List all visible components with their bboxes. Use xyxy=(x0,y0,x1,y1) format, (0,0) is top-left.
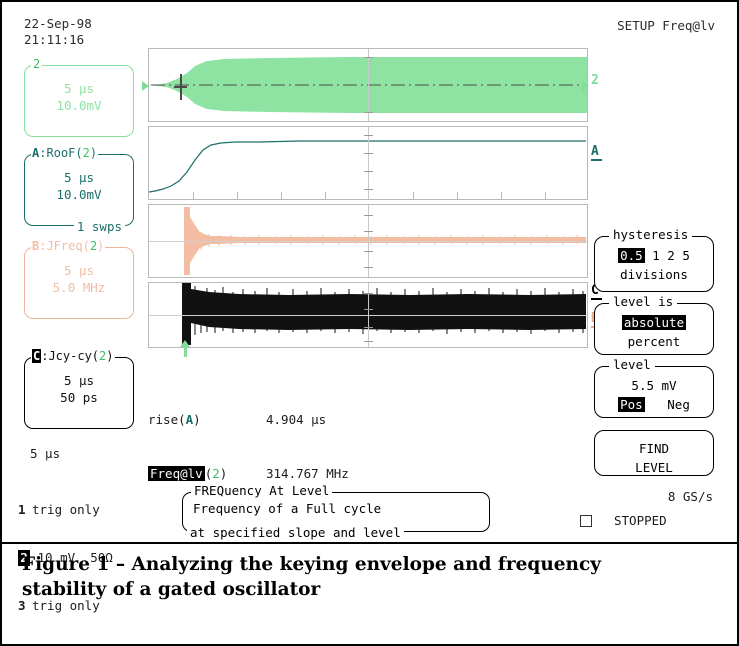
level-value[interactable]: 5.5 mV xyxy=(631,378,676,393)
center-vertical-gridline xyxy=(368,49,369,121)
menu-body-hysteresis: 0.5 1 2 5divisions xyxy=(595,246,713,284)
grid-tick xyxy=(364,215,373,216)
menu-title-hysteresis: hysteresis xyxy=(609,228,692,242)
grid-tick xyxy=(364,341,373,342)
acquisition-status: STOPPED xyxy=(614,513,667,528)
level-slope-neg[interactable]: Neg xyxy=(667,397,690,412)
measurement-value: 4.904 µs xyxy=(266,411,326,429)
trace-descriptor-func-b[interactable]: B:JFreq(2) 5 µs5.0 MHz xyxy=(24,247,134,319)
trace-sweeps-func-a: 1 swps xyxy=(74,220,125,234)
measurement-label: rise(A) xyxy=(148,411,266,429)
grid-tick xyxy=(364,309,373,310)
waveform-panel-func-c xyxy=(148,282,588,348)
sample-rate-readout: 8 GS/s xyxy=(668,489,713,504)
find-level-label: FINDLEVEL xyxy=(595,439,713,477)
waveform-panel-func-a xyxy=(148,126,588,200)
grid-tick xyxy=(364,135,373,136)
measurement-value: 314.767 MHz xyxy=(266,465,349,483)
timebase-readout: 5 µs xyxy=(30,446,60,461)
trace-descriptor-ch2[interactable]: 2 5 µs10.0mV xyxy=(24,65,134,137)
trace-descriptor-func-c[interactable]: C:Jcy-cy(2) 5 µs50 ps xyxy=(24,357,134,429)
grid-tick xyxy=(364,57,373,58)
x-axis-ticks xyxy=(149,198,587,199)
center-horizontal-gridline xyxy=(149,315,587,316)
trigger-position-arrow-icon[interactable] xyxy=(180,340,191,357)
waveform-panel-ch2 xyxy=(148,48,588,122)
grid-tick xyxy=(364,189,373,190)
time-text: 21:11:16 xyxy=(24,32,84,47)
hysteresis-option-1[interactable]: 1 xyxy=(652,248,660,263)
find-level-button[interactable]: FINDLEVEL xyxy=(594,430,714,476)
grid-tick xyxy=(364,231,373,232)
date-text: 22-Sep-98 xyxy=(24,16,92,31)
description-panel: FREQuency At Level Frequency of a Full c… xyxy=(182,492,490,532)
hysteresis-option-5[interactable]: 5 xyxy=(682,248,690,263)
description-title: FREQuency At Level xyxy=(191,484,332,498)
trace-tag-ch2: 2 xyxy=(31,57,42,71)
level-is-option-absolute[interactable]: absolute xyxy=(622,315,686,330)
menu-hysteresis[interactable]: hysteresis 0.5 1 2 5divisions xyxy=(594,236,714,292)
grid-tick xyxy=(364,153,373,154)
level-is-option-percent[interactable]: percent xyxy=(628,334,681,349)
description-line2: at specified slope and level xyxy=(187,526,404,540)
trace-descriptor-func-a[interactable]: A:RooF(2) 5 µs10.0mV 1 swps xyxy=(24,154,134,226)
waveform-panel-func-b xyxy=(148,204,588,278)
trace-values-ch2: 5 µs10.0mV xyxy=(25,80,133,114)
channel-status: trig only xyxy=(32,502,100,517)
measurement-label: Freq@lv(2) xyxy=(148,465,266,483)
trace-tag-func-a: A:RooF(2) xyxy=(31,146,98,160)
figure-container: 22-Sep-9821:11:16 SETUP Freq@lv 2 5 µs10… xyxy=(0,0,739,646)
divider xyxy=(2,542,737,544)
trace-tag-func-b: B:JFreq(2) xyxy=(31,239,105,253)
grid-tick xyxy=(364,293,373,294)
grid-tick xyxy=(364,267,373,268)
trigger-crosshair-icon[interactable] xyxy=(174,74,187,100)
menu-level-is[interactable]: level is absolutepercent xyxy=(594,303,714,355)
grid-tick xyxy=(364,251,373,252)
menu-body-level: 5.5 mVPos Neg xyxy=(595,376,713,414)
trigger-level-arrow-left xyxy=(142,81,149,91)
trigger-level-arrow-right xyxy=(582,81,589,91)
trace-values-func-a: 5 µs10.0mV xyxy=(25,169,133,203)
description-line1: Frequency of a Full cycle xyxy=(193,501,381,516)
edge-marker-ch2: 2 xyxy=(591,74,599,87)
oscilloscope-screen: 22-Sep-9821:11:16 SETUP Freq@lv 2 5 µs10… xyxy=(2,2,737,542)
grid-tick xyxy=(364,112,373,113)
waveform-graticule[interactable] xyxy=(148,48,588,348)
setup-label: SETUP Freq@lv xyxy=(617,18,715,33)
measurement-row[interactable]: Freq@lv(2)314.767 MHz xyxy=(148,465,349,483)
measurement-row[interactable]: rise(A)4.904 µs xyxy=(148,411,349,429)
menu-body-level-is: absolutepercent xyxy=(595,313,713,351)
hysteresis-option-2[interactable]: 2 xyxy=(667,248,675,263)
hysteresis-option-0p5[interactable]: 0.5 xyxy=(618,248,645,263)
trace-values-func-b: 5 µs5.0 MHz xyxy=(25,262,133,296)
edge-marker-func-a: A xyxy=(591,145,602,161)
trace-values-func-c: 5 µs50 ps xyxy=(25,372,133,406)
grid-tick xyxy=(364,327,373,328)
menu-title-level: level xyxy=(609,358,655,372)
grid-tick xyxy=(364,171,373,172)
figure-caption: Figure 1 – Analyzing the keying envelope… xyxy=(22,552,642,602)
menu-level[interactable]: level 5.5 mVPos Neg xyxy=(594,366,714,418)
channel-row-1[interactable]: 1trig only xyxy=(18,502,113,518)
acquisition-indicator-icon[interactable] xyxy=(580,515,592,527)
hysteresis-units: divisions xyxy=(620,267,688,282)
trace-tag-func-c: C:Jcy-cy(2) xyxy=(31,349,115,363)
menu-title-level-is: level is xyxy=(609,295,677,309)
center-horizontal-gridline xyxy=(149,241,587,242)
datetime-readout: 22-Sep-9821:11:16 xyxy=(24,16,92,48)
level-slope-pos[interactable]: Pos xyxy=(618,397,645,412)
